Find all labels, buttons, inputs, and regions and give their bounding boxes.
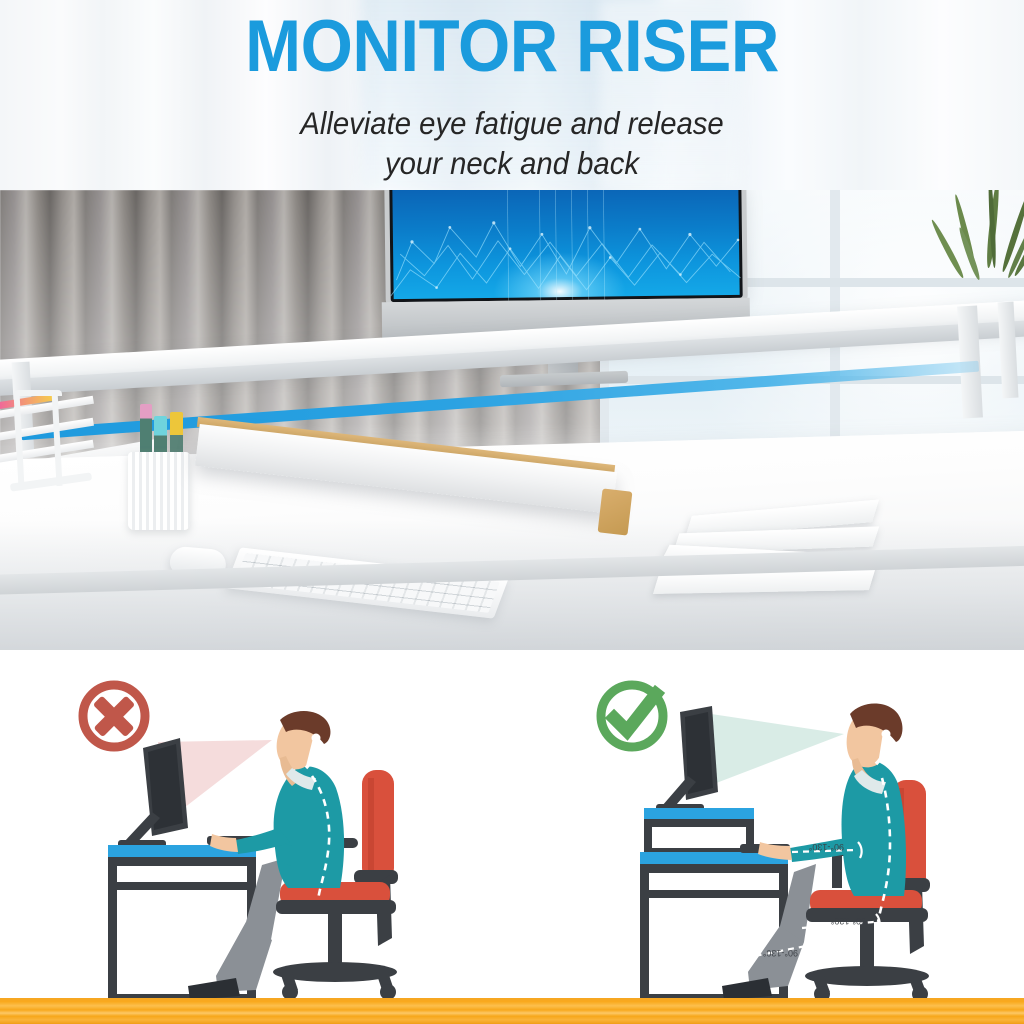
posture-comparison-illustration: 90°-130° 90°-130° 90°-130° xyxy=(0,650,1024,998)
sight-line-cone xyxy=(698,712,844,790)
header-banner: MONITOR RISER Alleviate eye fatigue and … xyxy=(0,0,1024,190)
cross-mark-icon xyxy=(83,685,145,747)
page-subtitle: Alleviate eye fatigue and release your n… xyxy=(36,104,988,183)
tray-frame xyxy=(14,390,62,396)
monitor-low xyxy=(118,738,188,848)
good-posture-scene: 90°-130° 90°-130° 90°-130° xyxy=(556,660,1024,998)
box-end-cap xyxy=(598,488,633,535)
angle-label: 90°-130° xyxy=(830,916,866,926)
monitor-screen xyxy=(389,190,742,302)
subtitle-line-1: Alleviate eye fatigue and release xyxy=(36,104,988,144)
monitor-riser xyxy=(644,808,754,856)
shoe-good xyxy=(722,978,772,998)
page-title: MONITOR RISER xyxy=(41,10,983,83)
pen-cup xyxy=(128,452,190,530)
product-photo xyxy=(0,190,1024,650)
bad-posture-scene xyxy=(40,660,510,998)
angle-label: 90°-130° xyxy=(808,842,844,852)
shoe-bad xyxy=(188,978,240,998)
footer-accent-band xyxy=(0,998,1024,1024)
check-mark-icon xyxy=(601,685,663,747)
product-marketing-image: MONITOR RISER Alleviate eye fatigue and … xyxy=(0,0,1024,1024)
angle-label: 90°-130° xyxy=(762,948,798,958)
wallpaper-polygon-graphic xyxy=(389,190,742,302)
subtitle-line-2: your neck and back xyxy=(36,144,988,184)
